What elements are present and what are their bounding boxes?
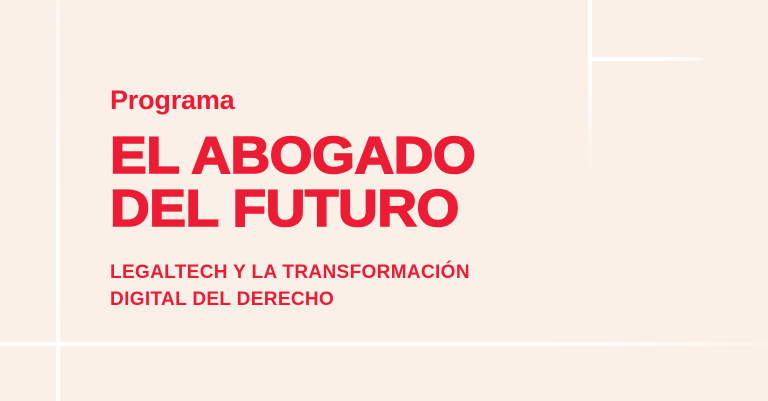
subtitle-line-2: DIGITAL DEL DERECHO — [110, 286, 730, 313]
headline-line-1: EL ABOGADO — [110, 130, 767, 183]
poster-canvas: Programa EL ABOGADO DEL FUTURO LEGALTECH… — [0, 0, 768, 401]
decorative-horizontal-rule-bottom — [0, 342, 768, 346]
decorative-vertical-rule-left — [56, 0, 60, 401]
eyebrow-label: Programa — [110, 84, 730, 116]
text-block: Programa EL ABOGADO DEL FUTURO LEGALTECH… — [110, 84, 730, 313]
page-title: EL ABOGADO DEL FUTURO — [110, 130, 767, 236]
page-subtitle: LEGALTECH Y LA TRANSFORMACIÓN DIGITAL DE… — [110, 259, 730, 313]
headline-line-2: DEL FUTURO — [110, 183, 767, 236]
subtitle-line-1: LEGALTECH Y LA TRANSFORMACIÓN — [110, 259, 730, 286]
decorative-horizontal-rule-top — [588, 57, 708, 61]
